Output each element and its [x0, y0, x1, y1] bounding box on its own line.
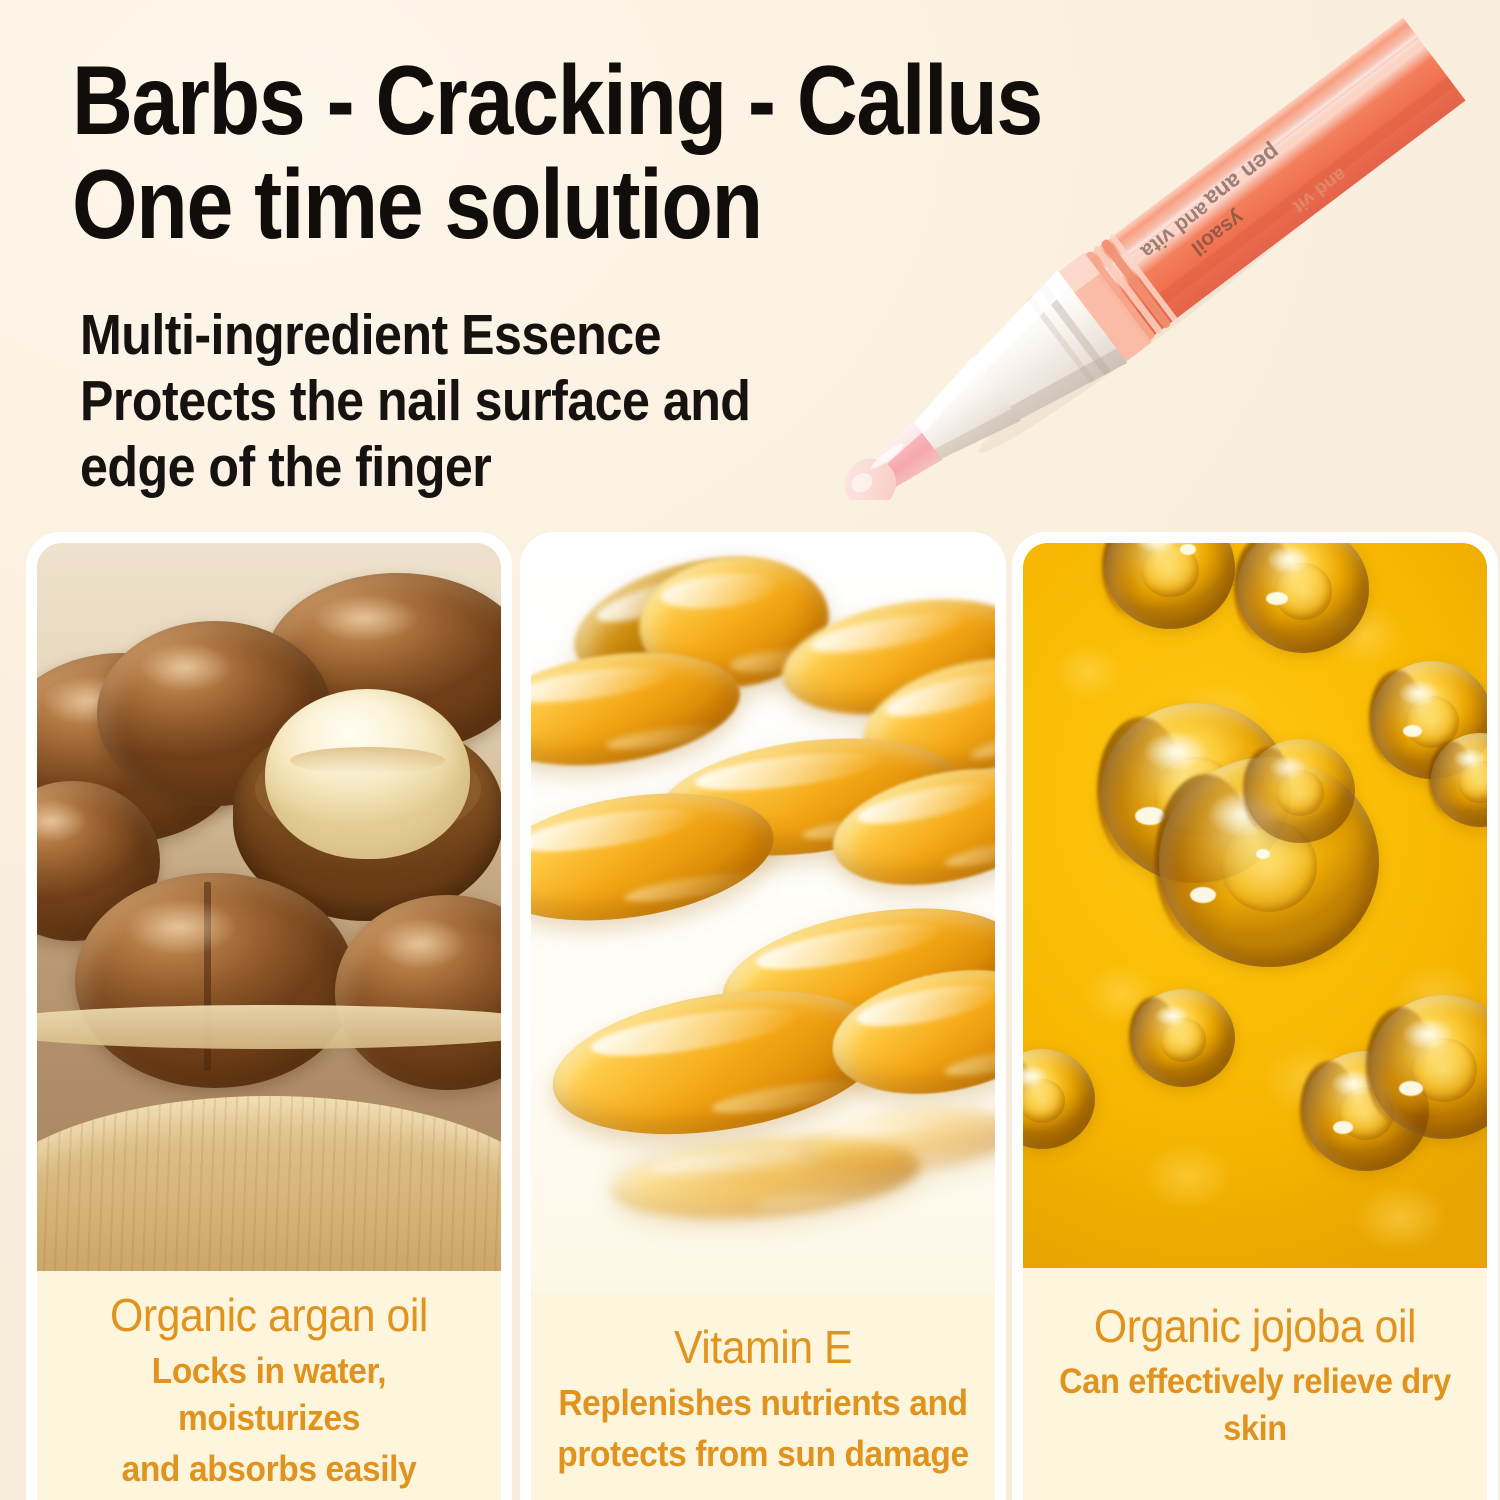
subheading: Multi-ingredient Essence Protects the na… [80, 302, 900, 500]
svg-text:and vit: and vit [1288, 163, 1350, 217]
vitamin-e-softgels-photo [531, 543, 995, 1293]
caption-body-line: Replenishes nutrients and [555, 1375, 972, 1426]
svg-text:and vita: and vita [1136, 197, 1213, 263]
caption-body-line: without irritation [61, 1492, 478, 1500]
ingredient-card-organic-jojoba-oil[interactable]: Organic jojoba oil Can effectively relie… [1012, 532, 1498, 1500]
ingredient-cards: Organic argan oil Locks in water, moistu… [0, 532, 1500, 1500]
subheading-line-2: Protects the nail surface and [80, 368, 802, 434]
caption-body-line: and absorbs easily [61, 1441, 478, 1492]
caption-body-line: protects from sun damage [555, 1426, 972, 1477]
headline-line-1: Barbs - Cracking - Callus [72, 48, 829, 152]
card-caption: Organic argan oil Locks in water, moistu… [37, 1271, 501, 1500]
caption-title: Organic jojoba oil [1047, 1298, 1464, 1354]
ingredient-card-vitamin-e[interactable]: Vitamin E Replenishes nutrients and prot… [520, 532, 1006, 1500]
card-caption: Vitamin E Replenishes nutrients and prot… [531, 1293, 995, 1500]
card-caption: Organic jojoba oil Can effectively relie… [1023, 1268, 1487, 1500]
macadamia-nuts-photo [37, 543, 501, 1271]
caption-title: Organic argan oil [61, 1287, 478, 1343]
caption-title: Vitamin E [555, 1319, 972, 1375]
caption-body-line: Can effectively relieve dry skin [1047, 1354, 1464, 1452]
product-infographic-page: Barbs - Cracking - Callus One time solut… [0, 0, 1500, 1500]
ingredient-card-organic-argan-oil[interactable]: Organic argan oil Locks in water, moistu… [26, 532, 512, 1500]
headline: Barbs - Cracking - Callus One time solut… [72, 48, 952, 256]
caption-body-line: Locks in water, moisturizes [61, 1343, 478, 1441]
headline-line-2: One time solution [72, 152, 829, 256]
subheading-line-1: Multi-ingredient Essence [80, 302, 802, 368]
svg-text:ysaoil: ysaoil [1187, 206, 1248, 260]
jojoba-oil-bubbles-photo [1023, 543, 1487, 1268]
svg-text:pen ana: pen ana [1200, 139, 1285, 212]
subheading-line-3: edge of the finger [80, 434, 802, 500]
